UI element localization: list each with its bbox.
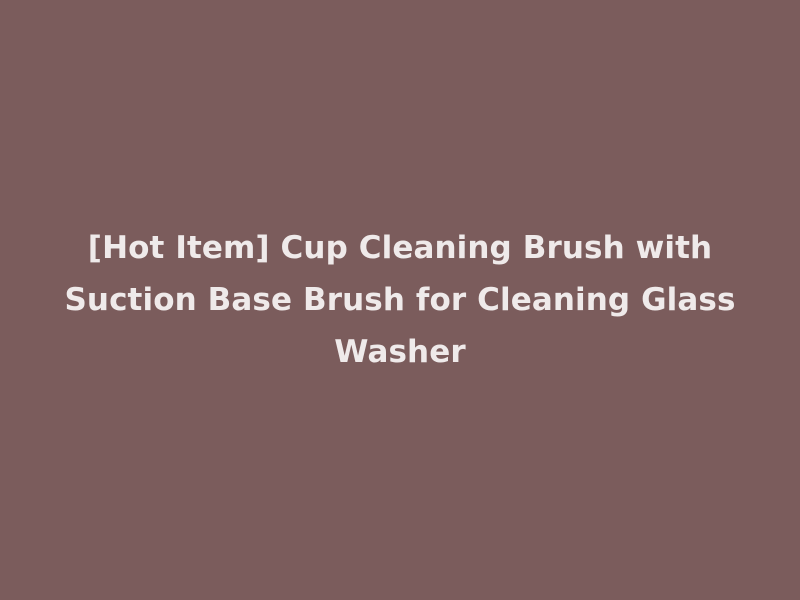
product-title: [Hot Item] Cup Cleaning Brush with Sucti…: [44, 222, 756, 378]
product-placeholder-card: [Hot Item] Cup Cleaning Brush with Sucti…: [0, 0, 800, 600]
